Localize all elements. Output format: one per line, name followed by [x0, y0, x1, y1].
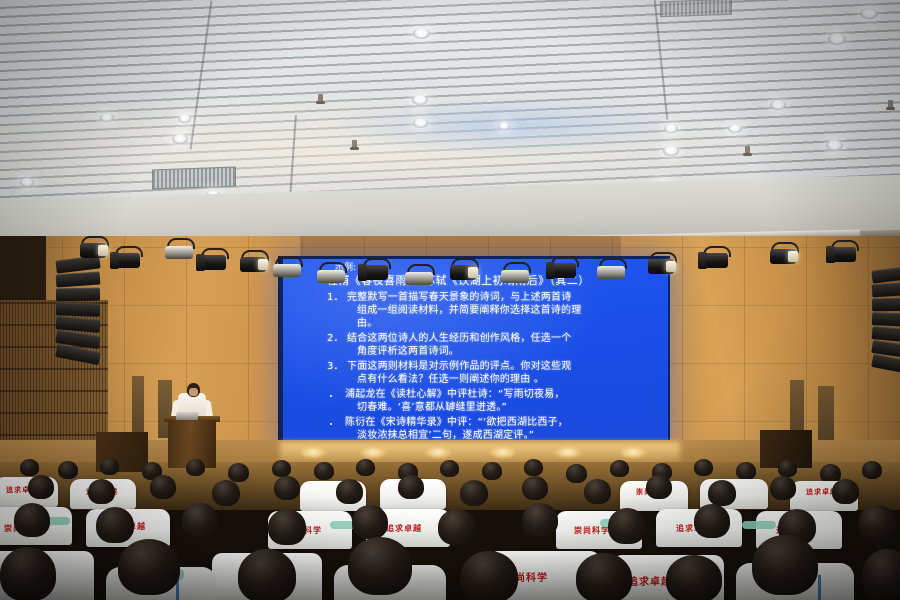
audience-head — [736, 462, 756, 480]
audience-head — [708, 480, 736, 506]
audience-head — [832, 479, 859, 504]
slide-bullet-line: 浦起龙在《读杜心解》中评杜诗：“写雨切夜易， — [345, 389, 565, 401]
slide-item-line: 结合这两位诗人的人生经历和创作风格，任选一个 — [347, 333, 571, 345]
audience-head — [14, 503, 50, 537]
slide-item-line: 由。 — [357, 318, 377, 330]
stage-light — [828, 240, 858, 266]
audience-head — [336, 479, 363, 504]
audience-head — [694, 459, 713, 476]
wall-door-recess — [132, 376, 144, 438]
audience-head — [186, 459, 205, 476]
stage-light — [164, 238, 194, 264]
ceiling-downlight — [413, 28, 430, 39]
audience-head — [440, 460, 459, 477]
audience-head — [268, 509, 306, 545]
fire-sprinkler — [888, 100, 893, 109]
air-vent-grille — [660, 0, 732, 17]
audience-seating: 追求卓越 追求卓越 崇尚科学 追求卓越 崇尚科学 追求卓越 崇尚科学 追求卓越 … — [0, 455, 900, 600]
audience-head — [778, 460, 797, 477]
audience-head — [228, 463, 249, 482]
audience-head — [398, 475, 424, 499]
audience-head — [182, 503, 218, 537]
stage-light — [238, 250, 268, 276]
audience-head — [522, 476, 548, 500]
audience-head — [100, 458, 119, 475]
wall-dark-recess — [0, 236, 46, 306]
audience-head — [352, 505, 388, 539]
slide-item-line: 完整默写一首描写春天景象的诗词，与上述两首诗 — [347, 292, 571, 304]
stage-light — [768, 242, 798, 268]
audience-head — [212, 480, 240, 506]
audience-head — [20, 459, 39, 476]
ceiling-downlight — [770, 100, 786, 110]
fire-sprinkler — [352, 140, 357, 149]
slide-item-marker: 1． — [327, 292, 344, 304]
audience-head — [272, 460, 291, 477]
stage-light — [500, 262, 530, 288]
audience-head — [862, 461, 882, 479]
audience-head — [438, 509, 476, 545]
stage-light — [700, 246, 730, 272]
fire-sprinkler — [745, 146, 750, 155]
ceiling-downlight — [664, 124, 678, 133]
slide-item-marker: 3． — [327, 361, 344, 373]
audience-head — [694, 504, 730, 538]
stage-light — [548, 256, 578, 282]
stage-light — [360, 258, 390, 284]
audience-head — [150, 475, 176, 499]
ceiling-downlight — [412, 95, 428, 105]
slide-item-line: 角度评析这两首诗词。 — [357, 346, 459, 358]
ceiling-downlight — [413, 118, 428, 128]
stage-light — [316, 262, 346, 288]
audience-head — [356, 459, 375, 476]
audience-head — [646, 475, 672, 499]
ceiling-downlight — [172, 134, 188, 144]
audience-head — [522, 503, 558, 537]
fire-sprinkler — [318, 94, 323, 103]
ceiling-downlight — [728, 124, 742, 133]
ceiling-downlight — [826, 140, 843, 151]
slide-bullet-line: 陈衍在《宋诗精华录》中评：“‘欲把西湖比西子， — [345, 417, 568, 429]
stage-light — [448, 258, 478, 284]
line-array-speaker-right — [872, 268, 900, 373]
uniform-collar — [742, 521, 776, 529]
audience-head — [460, 480, 488, 506]
stage-light — [198, 248, 228, 274]
stage-light — [646, 252, 676, 278]
slide-bullet-line: 切春难。‘喜’意都从罅缝里迸透。” — [357, 402, 507, 414]
audience-head — [858, 505, 896, 541]
audience-head — [566, 464, 587, 483]
audience-head — [608, 508, 646, 544]
audience-head — [482, 462, 502, 480]
audience-head — [88, 479, 115, 504]
audience-head — [274, 476, 300, 500]
presenter-face — [189, 388, 198, 396]
ceiling-downlight — [498, 122, 510, 130]
audience-head — [610, 460, 629, 477]
stage-light — [404, 264, 434, 290]
audience-head — [28, 475, 54, 499]
wall-door-recess — [818, 386, 834, 440]
slide-item-marker: 2． — [327, 333, 344, 345]
ceiling-downlight — [178, 114, 191, 123]
audience-head — [584, 479, 611, 504]
air-vent-grille — [152, 167, 236, 190]
stage-light — [272, 256, 302, 282]
audience-head — [524, 459, 543, 476]
seat-banner-text: 追求卓越 — [386, 523, 422, 534]
slide-item-line: 点有什么看法？任选一则阐述你的理由 。 — [357, 374, 544, 386]
slide-item-line: 下面这两则材料是对示例作品的评点。你对这些观 — [347, 361, 571, 373]
bullet-dot-icon — [330, 423, 332, 425]
ceiling-downlight — [663, 146, 679, 156]
ceiling-downlight — [20, 178, 34, 187]
ceiling-downlight — [860, 8, 878, 19]
stage-light — [78, 236, 108, 262]
auditorium-photo: 示例: 杜甫《春夜喜雨》、苏轼《饮湖上初晴雨后》（其二） 1． 完整默写一首描写… — [0, 0, 900, 600]
ceiling-blue-reflection — [330, 96, 690, 156]
audience-head — [58, 461, 78, 479]
stage-light — [112, 246, 142, 272]
audience-head — [96, 507, 134, 543]
ceiling-downlight — [100, 113, 114, 122]
bullet-dot-icon — [330, 395, 332, 397]
audience-head — [770, 476, 796, 500]
audience-foreground-shadow — [0, 550, 900, 600]
stage-light — [596, 258, 626, 284]
ceiling-downlight — [828, 33, 846, 45]
audience-head — [314, 462, 334, 480]
line-array-speaker-left — [56, 258, 100, 363]
slide-item-line: 组成一组阅读材料，并简要阐释你选择这首诗的理 — [357, 305, 581, 317]
